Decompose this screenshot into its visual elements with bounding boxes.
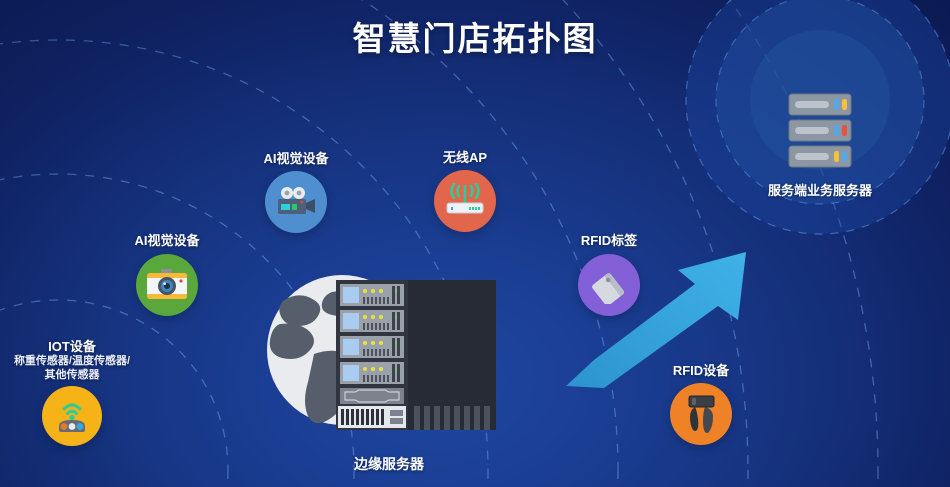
node-label-ai-vision-video: AI视觉设备 (263, 148, 328, 167)
wifi-router-icon (445, 183, 485, 219)
node-icon-circle-ai-vision-camera[interactable] (136, 254, 198, 316)
node-icon-circle-rfid-tag[interactable] (578, 254, 640, 316)
node-icon-circle-ai-vision-video[interactable] (265, 171, 327, 233)
node-sublabel-iot: 称重传感器/温度传感器/ 其他传感器 (14, 354, 130, 382)
iot-sensor-icon (51, 396, 93, 436)
node-label-wireless-ap: 无线AP (443, 147, 487, 166)
node-label-rfid-device: RFID设备 (673, 360, 729, 379)
edge-server-label: 边缘服务器 (244, 454, 534, 474)
node-icon-circle-wireless-ap[interactable] (434, 170, 496, 232)
node-label-ai-vision-camera: AI视觉设备 (134, 230, 199, 249)
node-icon-circle-iot[interactable] (42, 386, 102, 446)
node-icon-circle-rfid-device[interactable] (670, 383, 732, 445)
node-label-iot: IOT设备 (48, 336, 96, 355)
photo-camera-icon (146, 268, 188, 302)
price-tag-icon (590, 266, 628, 304)
handheld-scanner-icon (681, 394, 721, 434)
service-server-group: 服务端业务服务器 (700, 62, 940, 222)
topology-diagram: 智慧门店拓扑图 (0, 0, 950, 487)
globe-server-rack-icon (244, 262, 534, 462)
server-stack-icon (787, 92, 853, 170)
video-camera-icon (275, 185, 317, 219)
service-server-label: 服务端业务服务器 (700, 180, 940, 199)
edge-server-group: 边缘服务器 (244, 262, 534, 477)
node-label-rfid-tag: RFID标签 (581, 230, 637, 249)
